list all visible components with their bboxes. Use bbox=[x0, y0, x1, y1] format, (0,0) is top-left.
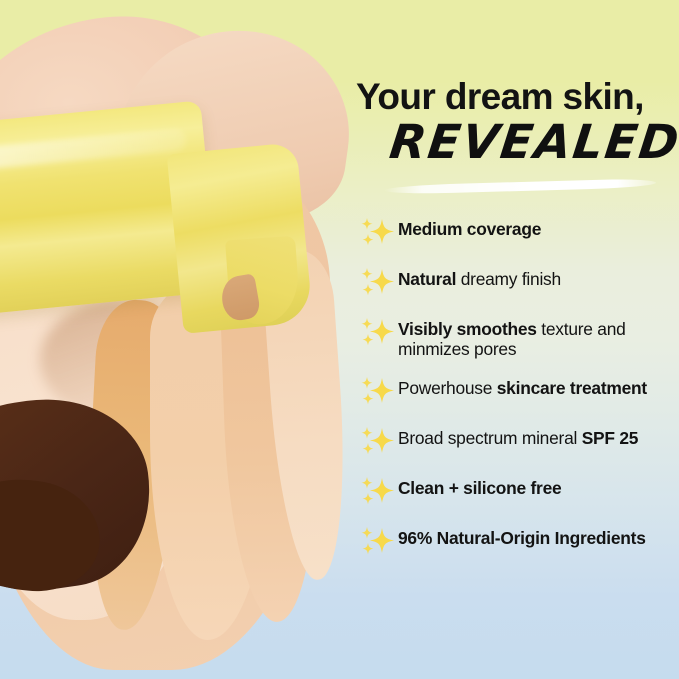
benefit-text-regular: Broad spectrum mineral bbox=[398, 428, 582, 448]
benefit-text-bold: 96% Natural-Origin Ingredients bbox=[398, 528, 646, 548]
benefit-text: 96% Natural-Origin Ingredients bbox=[398, 525, 646, 548]
benefit-item: Natural dreamy finish bbox=[358, 266, 676, 301]
benefit-text-bold-tail: SPF 25 bbox=[582, 428, 639, 448]
benefit-item: Visibly smoothes texture and minmizes po… bbox=[358, 316, 676, 360]
product-artwork bbox=[0, 0, 360, 679]
benefit-text: Visibly smoothes texture and minmizes po… bbox=[398, 316, 676, 360]
sparkle-icon bbox=[358, 476, 398, 510]
benefit-text: Medium coverage bbox=[398, 216, 541, 239]
benefit-text-regular: Powerhouse bbox=[398, 378, 497, 398]
benefit-item: Powerhouse skincare treatment bbox=[358, 375, 676, 410]
benefit-text-bold: Natural bbox=[398, 269, 456, 289]
headline: Your dream skin, REVEALED bbox=[356, 78, 676, 166]
benefit-item: Clean + silicone free bbox=[358, 475, 676, 510]
benefit-text: Powerhouse skincare treatment bbox=[398, 375, 647, 398]
benefit-text-bold-tail: skincare treatment bbox=[497, 378, 647, 398]
benefit-text-bold: Clean + silicone free bbox=[398, 478, 561, 498]
benefit-text: Natural dreamy finish bbox=[398, 266, 561, 289]
benefit-text: Broad spectrum mineral SPF 25 bbox=[398, 425, 638, 448]
benefit-text-regular: dreamy finish bbox=[456, 269, 561, 289]
benefit-text-bold: Visibly smoothes bbox=[398, 319, 537, 339]
sparkle-icon bbox=[358, 267, 398, 301]
headline-line-1: Your dream skin, bbox=[356, 78, 676, 115]
sparkle-icon bbox=[358, 376, 398, 410]
sparkle-icon bbox=[358, 317, 398, 351]
benefit-item: Medium coverage bbox=[358, 216, 676, 251]
benefit-text-bold: Medium coverage bbox=[398, 219, 541, 239]
benefit-text: Clean + silicone free bbox=[398, 475, 561, 498]
benefit-item: 96% Natural-Origin Ingredients bbox=[358, 525, 676, 560]
benefit-list: Medium coverageNatural dreamy finishVisi… bbox=[358, 216, 676, 575]
product-marketing-image: Your dream skin, REVEALED Medium coverag… bbox=[0, 0, 679, 679]
tube-highlight bbox=[0, 128, 187, 171]
headline-line-2: REVEALED bbox=[387, 119, 679, 166]
copy-column: Your dream skin, REVEALED Medium coverag… bbox=[352, 0, 679, 679]
benefit-item: Broad spectrum mineral SPF 25 bbox=[358, 425, 676, 460]
brush-underline bbox=[384, 178, 656, 195]
sparkle-icon bbox=[358, 526, 398, 560]
sparkle-icon bbox=[358, 426, 398, 460]
sparkle-icon bbox=[358, 217, 398, 251]
